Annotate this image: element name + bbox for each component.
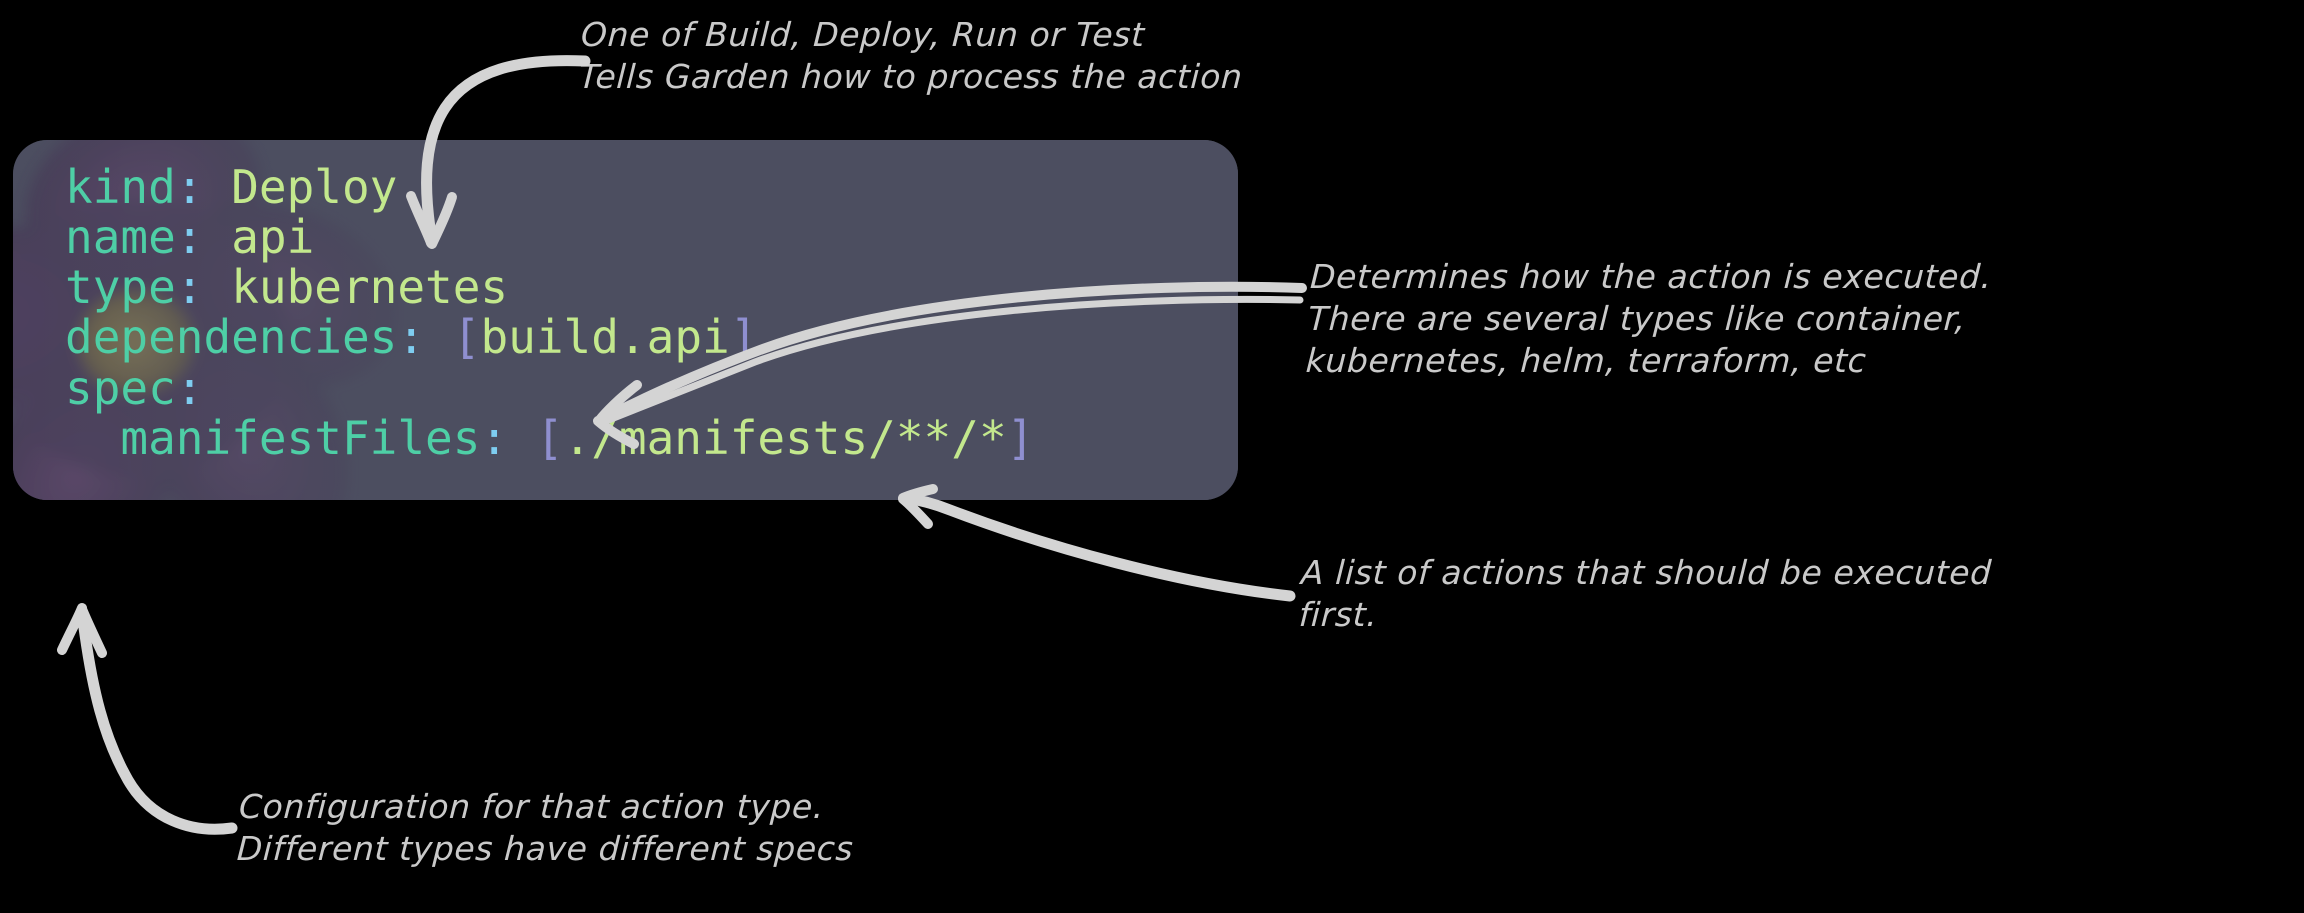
yaml-bracket-open: [ bbox=[536, 411, 564, 465]
yaml-key-kind: kind bbox=[65, 160, 176, 214]
yaml-colon: : bbox=[176, 361, 204, 415]
yaml-colon: : bbox=[176, 260, 204, 314]
yaml-colon: : bbox=[397, 310, 425, 364]
yaml-code-text: kind: Deploy name: api type: kubernetes … bbox=[65, 162, 1034, 463]
yaml-bracket-close: ] bbox=[730, 310, 758, 364]
yaml-bracket-close: ] bbox=[1007, 411, 1035, 465]
yaml-colon: : bbox=[480, 411, 508, 465]
yaml-key-name: name bbox=[65, 210, 176, 264]
annotation-dependencies: A list of actions that should be execute… bbox=[1298, 552, 2292, 636]
yaml-colon: : bbox=[176, 210, 204, 264]
annotation-type: Determines how the action is executed. T… bbox=[1305, 256, 2292, 383]
yaml-value-name: api bbox=[231, 210, 314, 264]
yaml-value-manifestfiles: ./manifests/**/* bbox=[564, 411, 1007, 465]
arrow-to-spec-icon bbox=[62, 608, 232, 829]
yaml-key-type: type bbox=[65, 260, 176, 314]
yaml-value-kind: Deploy bbox=[231, 160, 397, 214]
annotation-kind: One of Build, Deploy, Run or Test Tells … bbox=[578, 14, 1422, 98]
yaml-key-manifestfiles: manifestFiles bbox=[120, 411, 480, 465]
arrow-to-dependencies-icon bbox=[903, 489, 1290, 596]
yaml-bracket-open: [ bbox=[453, 310, 481, 364]
yaml-value-type: kubernetes bbox=[231, 260, 508, 314]
yaml-value-dependencies: build.api bbox=[480, 310, 729, 364]
annotation-spec: Configuration for that action type. Diff… bbox=[236, 786, 1140, 870]
yaml-key-dependencies: dependencies bbox=[65, 310, 397, 364]
yaml-colon: : bbox=[176, 160, 204, 214]
diagram-canvas: kind: Deploy name: api type: kubernetes … bbox=[0, 0, 2304, 913]
yaml-key-spec: spec bbox=[65, 361, 176, 415]
yaml-code-card: kind: Deploy name: api type: kubernetes … bbox=[13, 140, 1238, 500]
